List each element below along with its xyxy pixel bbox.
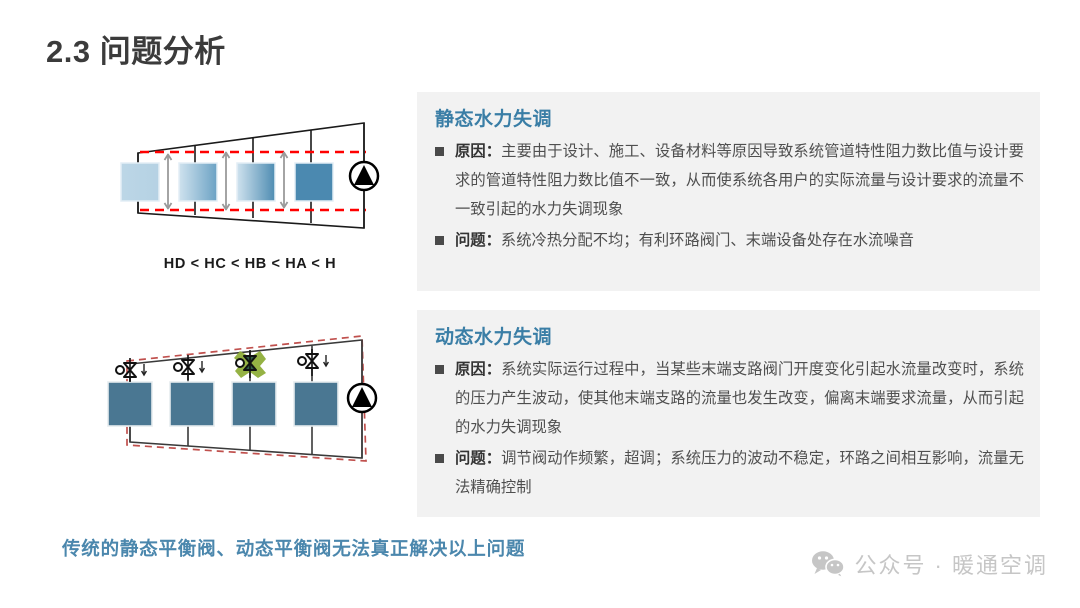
terminal-d [121, 163, 159, 201]
dynamic-hydraulic-imbalance-diagram [100, 330, 400, 480]
watermark-text: 公众号 · 暖通空调 [854, 548, 1048, 580]
valve-icon [116, 358, 146, 382]
bullet-lead: 问题： [455, 231, 501, 249]
static-panel: 静态水力失调 原因：主要由于设计、施工、设备材料等原因导致系统管道特性阻力数比值… [417, 92, 1040, 291]
bullet-text: 原因：系统实际运行过程中，当某些末端支路阀门开度变化引起水流量改变时，系统的压力… [455, 355, 1024, 442]
list-item: 问题：系统冷热分配不均；有利环路阀门、末端设备处存在水流噪音 [433, 226, 1024, 255]
bullet-square-icon [435, 236, 444, 245]
bullet-text: 原因：主要由于设计、施工、设备材料等原因导致系统管道特性阻力数比值与设计要求的管… [455, 137, 1024, 224]
terminal-4 [294, 382, 338, 426]
wechat-icon [811, 550, 845, 578]
list-item: 问题：调节阀动作频繁，超调；系统压力的波动不稳定，环路之间相互影响，流量无法精确… [433, 444, 1024, 502]
bullet-square-icon [435, 365, 444, 374]
list-item: 原因：主要由于设计、施工、设备材料等原因导致系统管道特性阻力数比值与设计要求的管… [433, 137, 1024, 224]
slide-root: 2.3 问题分析 [0, 0, 1080, 608]
list-item: 原因：系统实际运行过程中，当某些末端支路阀门开度变化引起水流量改变时，系统的压力… [433, 355, 1024, 442]
bullet-detail: 系统实际运行过程中，当某些末端支路阀门开度变化引起水流量改变时，系统的压力产生波… [455, 360, 1024, 436]
bullet-square-icon [435, 454, 444, 463]
valve-highlighted-icon [234, 350, 266, 378]
bullet-detail: 系统冷热分配不均；有利环路阀门、末端设备处存在水流噪音 [501, 231, 914, 249]
dynamic-panel: 动态水力失调 原因：系统实际运行过程中，当某些末端支路阀门开度变化引起水流量改变… [417, 310, 1040, 517]
page-title: 2.3 问题分析 [46, 26, 226, 71]
terminal-b [237, 163, 275, 201]
terminal-3 [232, 382, 276, 426]
terminal-1 [108, 382, 152, 426]
bullet-detail: 主要由于设计、施工、设备材料等原因导致系统管道特性阻力数比值与设计要求的管道特性… [455, 142, 1024, 218]
static-hydraulic-imbalance-diagram [100, 108, 400, 238]
bullet-square-icon [435, 147, 444, 156]
panel-heading: 动态水力失调 [435, 322, 1024, 349]
conclusion-text: 传统的静态平衡阀、动态平衡阀无法真正解决以上问题 [62, 535, 525, 561]
bullet-lead: 原因： [455, 142, 501, 160]
bullet-text: 问题：调节阀动作频繁，超调；系统压力的波动不稳定，环路之间相互影响，流量无法精确… [455, 444, 1024, 502]
watermark: 公众号 · 暖通空调 [811, 548, 1048, 580]
bullet-lead: 问题： [455, 449, 501, 467]
terminal-2 [170, 382, 214, 426]
panel-heading: 静态水力失调 [435, 104, 1024, 131]
static-head-caption: HD < HC < HB < HA < H [100, 256, 400, 272]
bullet-lead: 原因： [455, 360, 501, 378]
valve-icon [298, 349, 328, 376]
pump-icon [350, 162, 378, 190]
terminal-c [179, 163, 217, 201]
pump-icon [348, 384, 376, 412]
bullet-detail: 调节阀动作频繁，超调；系统压力的波动不稳定，环路之间相互影响，流量无法精确控制 [455, 449, 1024, 496]
bullet-text: 问题：系统冷热分配不均；有利环路阀门、末端设备处存在水流噪音 [455, 226, 1024, 255]
terminal-a [295, 163, 333, 201]
